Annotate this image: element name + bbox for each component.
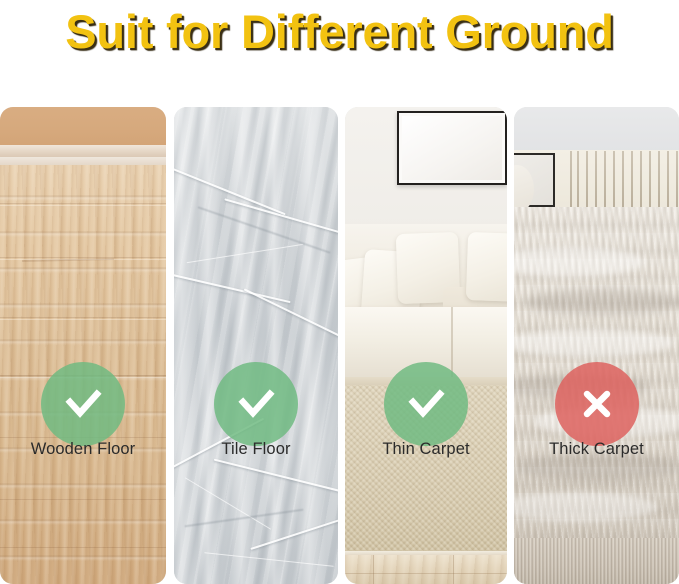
status-badge-approved [214,362,298,446]
title-bar: Suit for Different Ground [0,0,679,107]
panel-label-tile-floor: Tile Floor [174,440,338,459]
thick-carpet-image [514,107,679,584]
status-badge-rejected [555,362,639,446]
tile-floor-image [174,107,338,584]
ground-type-panel-row: Wooden Floor Tile [0,107,679,584]
panel-label-thick-carpet: Thick Carpet [514,440,679,459]
panel-wooden-floor[interactable]: Wooden Floor [0,107,166,584]
check-icon [233,381,279,427]
panel-tile-floor[interactable]: Tile Floor [174,107,338,584]
cross-icon [574,381,620,427]
wood-floor-strip [345,555,507,584]
panel-label-thin-carpet: Thin Carpet [345,440,507,459]
status-badge-approved [384,362,468,446]
panel-thin-carpet[interactable]: Thin Carpet [345,107,507,584]
panel-label-wooden-floor: Wooden Floor [0,440,166,459]
shag-pile-fringe [514,538,679,584]
thin-carpet-image [345,107,507,584]
page-title: Suit for Different Ground [65,4,614,60]
check-icon [403,381,449,427]
wooden-floor-image [0,107,166,584]
status-badge-approved [41,362,125,446]
check-icon [60,381,106,427]
panel-thick-carpet[interactable]: Thick Carpet [514,107,679,584]
wall-art-frame [397,111,507,185]
